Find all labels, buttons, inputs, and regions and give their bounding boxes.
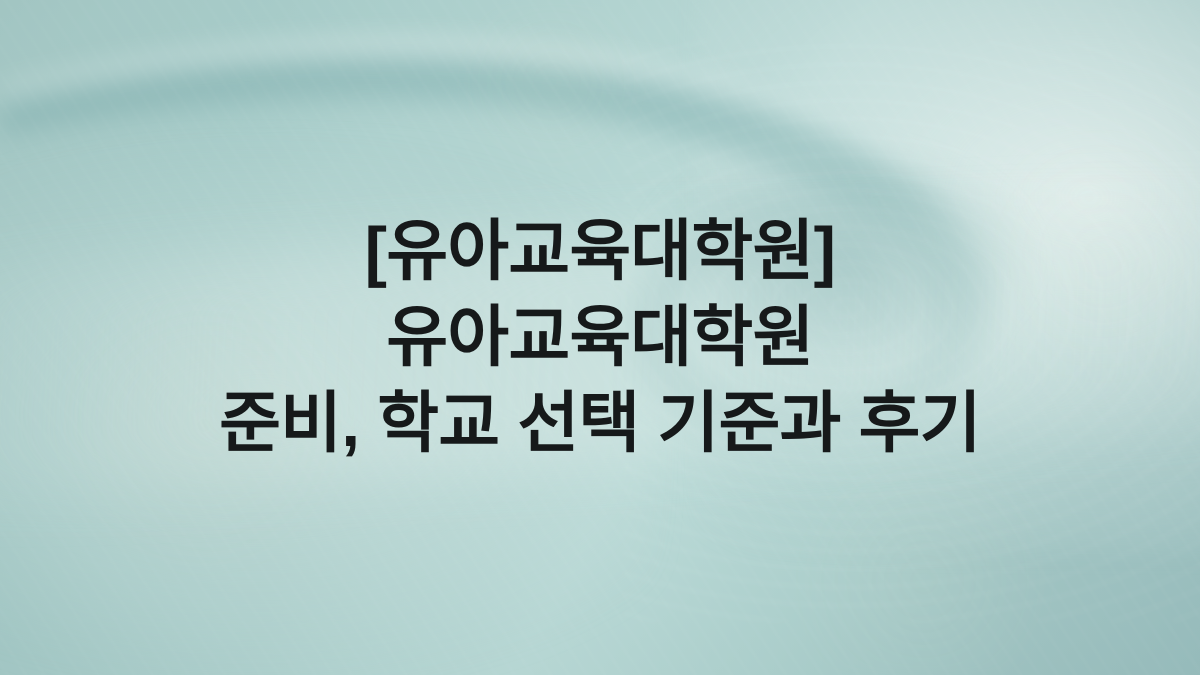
blog-thumbnail-banner: [유아교육대학원] 유아교육대학원 준비, 학교 선택 기준과 후기 <box>0 0 1200 675</box>
page-title: [유아교육대학원] 유아교육대학원 준비, 학교 선택 기준과 후기 <box>150 209 1050 467</box>
title-block: [유아교육대학원] 유아교육대학원 준비, 학교 선택 기준과 후기 <box>0 0 1200 675</box>
page-title-line-1: [유아교육대학원] 유아교육대학원 <box>150 209 1050 381</box>
page-title-line-2: 준비, 학교 선택 기준과 후기 <box>150 381 1050 467</box>
